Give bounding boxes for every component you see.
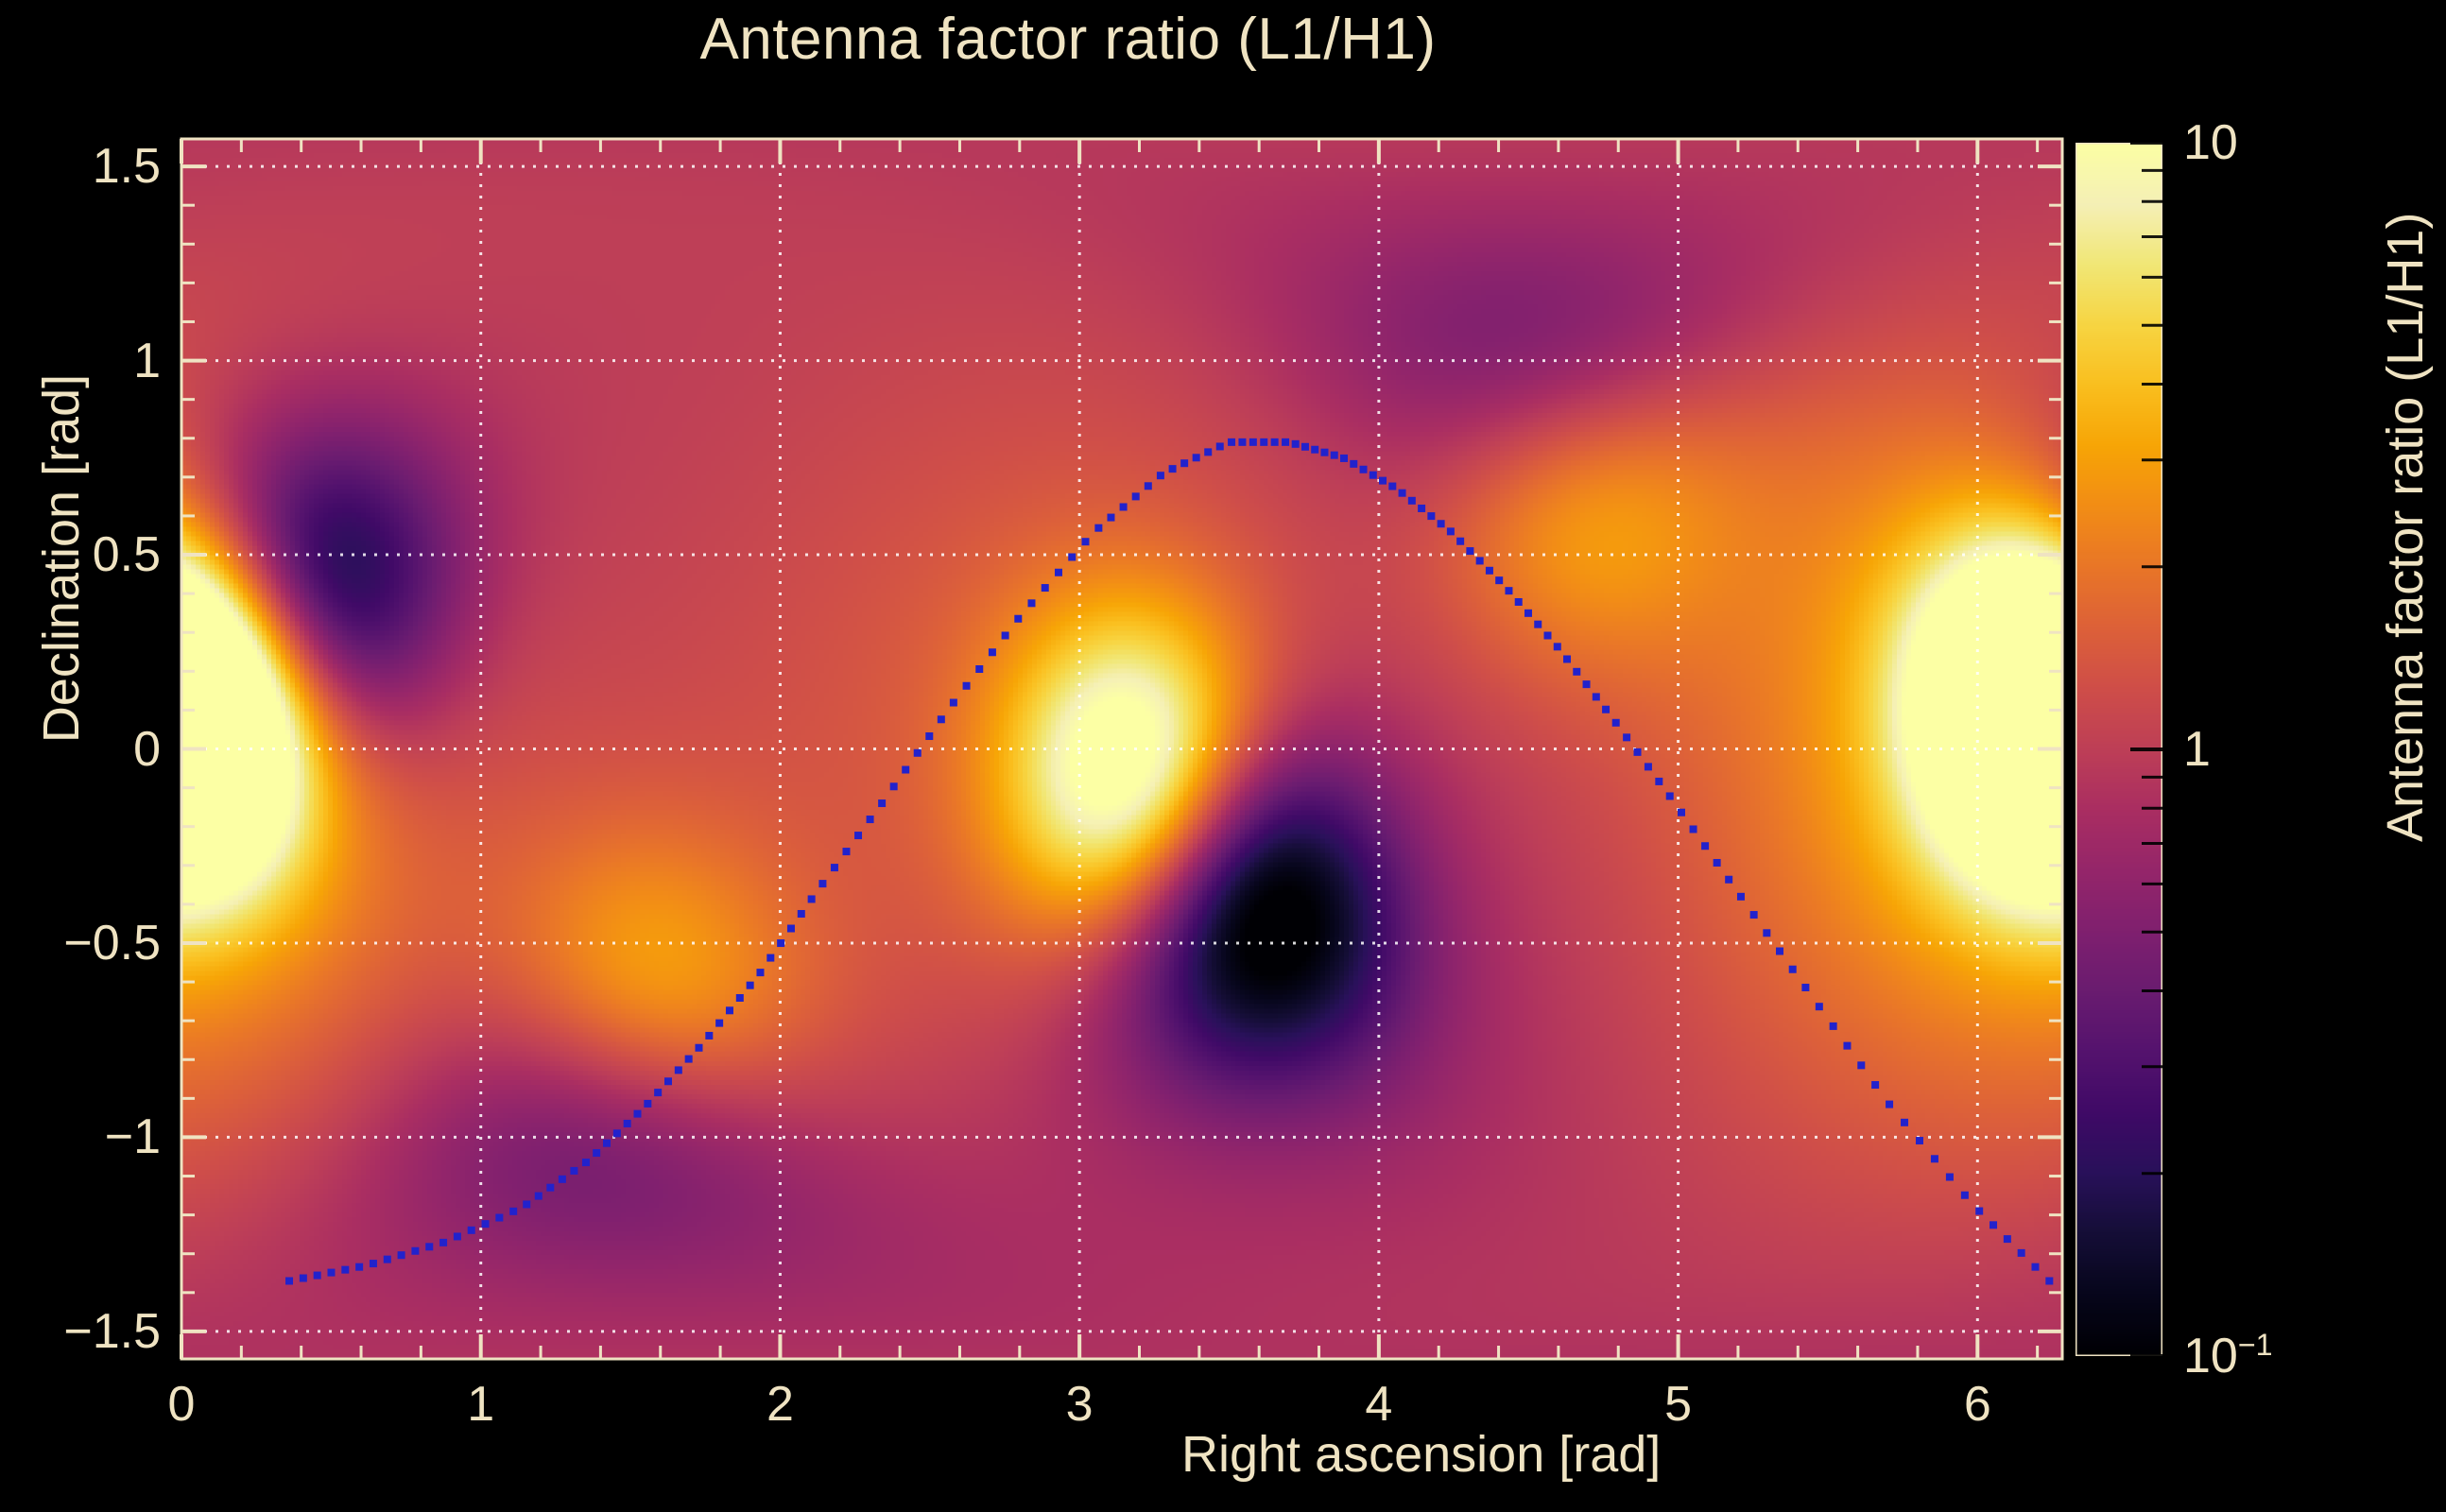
colorbar-tick-label: 10 bbox=[2183, 114, 2238, 171]
chart-canvas: Antenna factor ratio (L1/H1) Declination… bbox=[0, 0, 2446, 1512]
y-tick-label: −1 bbox=[0, 1108, 161, 1165]
colorbar-tick-label: 1 bbox=[2183, 721, 2211, 778]
x-tick-label: 3 bbox=[1066, 1376, 1094, 1433]
colorbar bbox=[2076, 143, 2162, 1356]
colorbar-title: Antenna factor ratio (L1/H1) bbox=[2376, 218, 2435, 842]
y-tick-label: 1.5 bbox=[0, 138, 161, 195]
x-tick-label: 4 bbox=[1365, 1376, 1392, 1433]
x-axis-title: Right ascension [rad] bbox=[1181, 1425, 1661, 1484]
y-tick-label: 0 bbox=[0, 721, 161, 778]
x-tick-label: 5 bbox=[1664, 1376, 1692, 1433]
y-tick-label: 1 bbox=[0, 333, 161, 389]
y-tick-label: −0.5 bbox=[0, 915, 161, 971]
x-tick-label: 1 bbox=[467, 1376, 494, 1433]
y-tick-label: −1.5 bbox=[0, 1303, 161, 1360]
colorbar-tick-label: 10−1 bbox=[2183, 1328, 2273, 1384]
x-tick-label: 6 bbox=[1964, 1376, 1991, 1433]
horizon-curve-overlay bbox=[181, 139, 2062, 1359]
y-tick-label: 0.5 bbox=[0, 526, 161, 583]
x-tick-label: 0 bbox=[168, 1376, 196, 1433]
colorbar-ticks bbox=[2076, 143, 2162, 1356]
plot-area bbox=[181, 139, 2062, 1359]
chart-title: Antenna factor ratio (L1/H1) bbox=[0, 6, 2136, 73]
x-tick-label: 2 bbox=[767, 1376, 794, 1433]
